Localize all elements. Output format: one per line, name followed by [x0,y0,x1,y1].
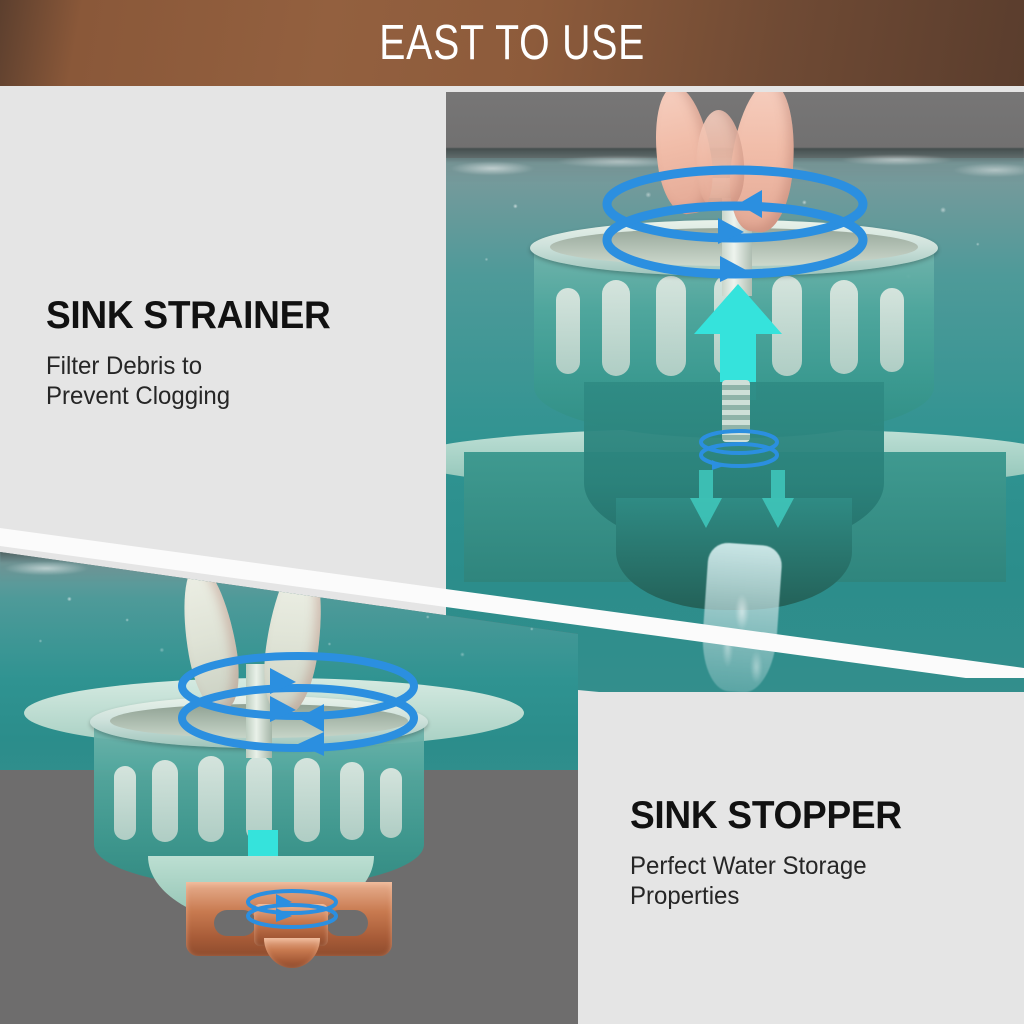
sink-strainer-subtitle: Filter Debris to Prevent Clogging [46,351,411,412]
sink-strainer-subtitle-line1: Filter Debris to [46,351,411,382]
sink-stopper-subtitle-line1: Perfect Water Storage [630,851,1014,882]
twist-rotation-arrows [570,160,900,292]
sink-stopper-heading: SINK STOPPER [630,796,1010,837]
nut-rotation-arrows [236,888,348,932]
infographic-canvas: EAST TO USE [0,0,1024,1024]
basket-slot [880,288,904,372]
seal-down-arrow-right [760,468,796,530]
basket-slot [602,280,630,376]
sink-strainer-heading: SINK STRAINER [46,296,407,337]
sink-stopper-subtitle-line2: Properties [630,881,1014,912]
sink-strainer-subtitle-line2: Prevent Clogging [46,381,411,412]
screw-rotation-arrows [690,428,788,470]
sink-stopper-text-block: SINK STOPPER Perfect Water Storage Prope… [630,796,1024,912]
sink-stopper-subtitle: Perfect Water Storage Properties [630,851,1014,912]
basket-slot [340,762,364,840]
basket-slot [830,280,858,374]
basket-slot [556,288,580,374]
basket-slot [380,768,402,838]
twist-rotation-arrows [152,648,444,760]
basket-slot [152,760,178,842]
basket-slot [114,766,136,840]
banner-title: EAST TO USE [379,19,645,68]
seal-down-arrow-left [688,468,724,530]
sink-strainer-text-block: SINK STRAINER Filter Debris to Prevent C… [46,296,426,412]
basket-slot [198,756,224,842]
header-banner: EAST TO USE [0,0,1024,86]
